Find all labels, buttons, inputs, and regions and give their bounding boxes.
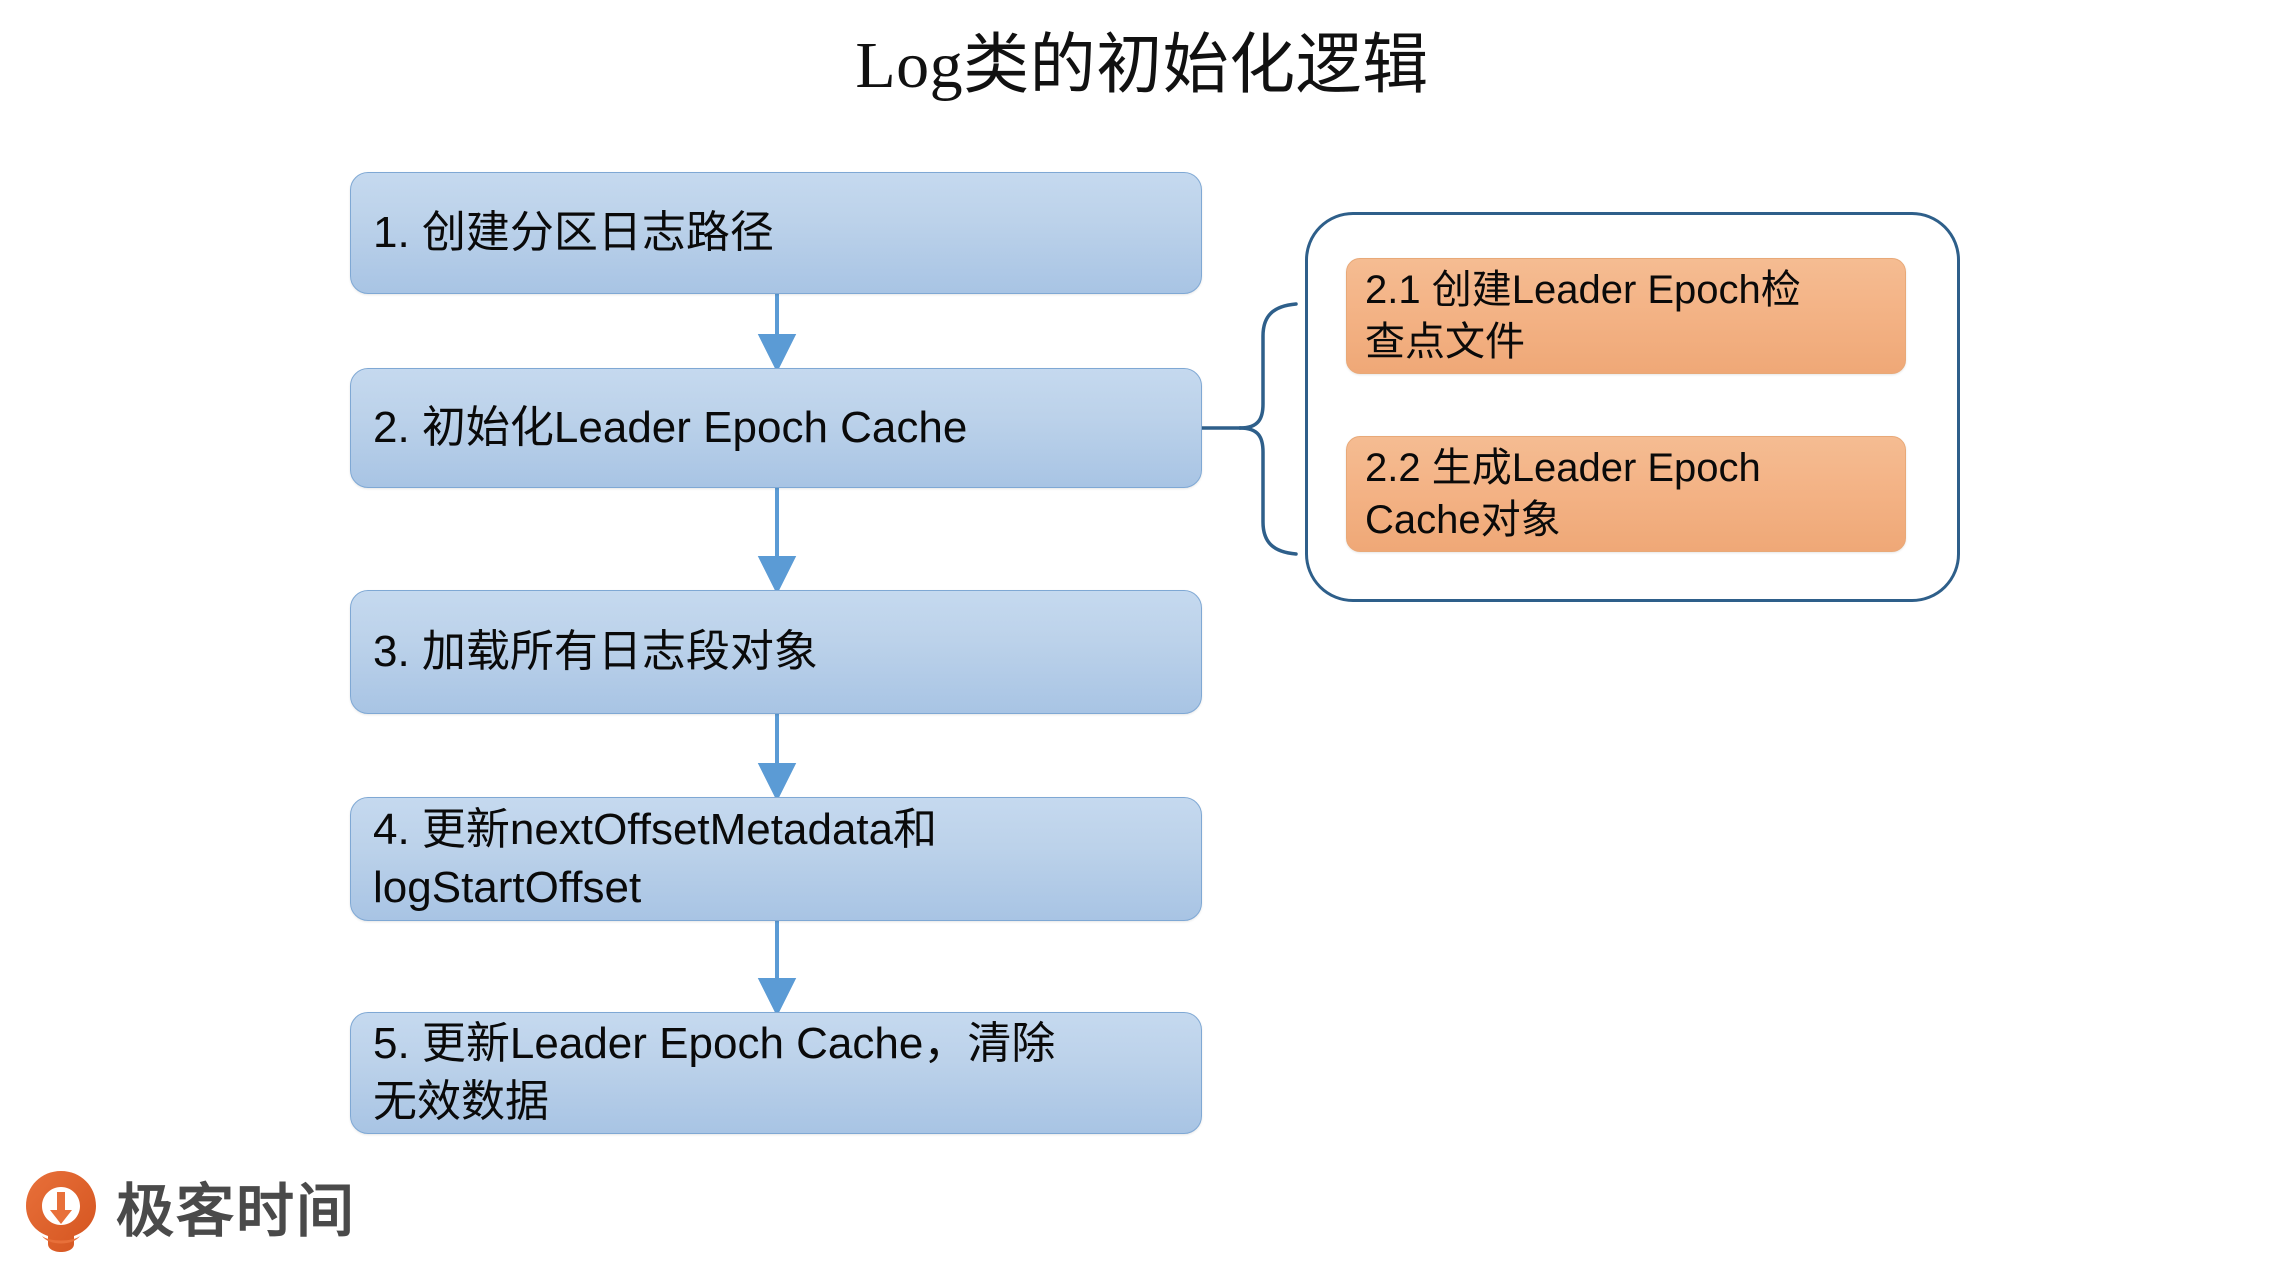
brand-logo-text: 极客时间 (116, 1182, 356, 1240)
flow-step-1[interactable]: 1. 创建分区日志路径 (350, 172, 1202, 294)
flow-step-5[interactable]: 5. 更新Leader Epoch Cache，清除 无效数据 (350, 1012, 1202, 1134)
flow-step-1-label: 1. 创建分区日志路径 (373, 204, 1179, 262)
flow-step-5-label: 5. 更新Leader Epoch Cache，清除 无效数据 (373, 1015, 1179, 1131)
substep-2-2[interactable]: 2.2 生成Leader Epoch Cache对象 (1346, 436, 1906, 552)
flow-step-2-label: 2. 初始化Leader Epoch Cache (373, 399, 1179, 457)
slide-canvas: Log类的初始化逻辑 1. 创建分区日志路径 (0, 0, 2284, 1285)
geektime-logo-icon (22, 1168, 100, 1254)
flow-step-4-label: 4. 更新nextOffsetMetadata和 logStartOffset (373, 801, 1179, 917)
flow-step-4[interactable]: 4. 更新nextOffsetMetadata和 logStartOffset (350, 797, 1202, 921)
flow-step-3-label: 3. 加载所有日志段对象 (373, 623, 1179, 681)
substep-2-1[interactable]: 2.1 创建Leader Epoch检 查点文件 (1346, 258, 1906, 374)
flow-step-2[interactable]: 2. 初始化Leader Epoch Cache (350, 368, 1202, 488)
flow-step-3[interactable]: 3. 加载所有日志段对象 (350, 590, 1202, 714)
substep-2-2-label: 2.2 生成Leader Epoch Cache对象 (1365, 442, 1887, 546)
brand-logo: 极客时间 (22, 1168, 356, 1254)
substep-2-1-label: 2.1 创建Leader Epoch检 查点文件 (1365, 264, 1887, 368)
page-title: Log类的初始化逻辑 (0, 28, 2284, 104)
